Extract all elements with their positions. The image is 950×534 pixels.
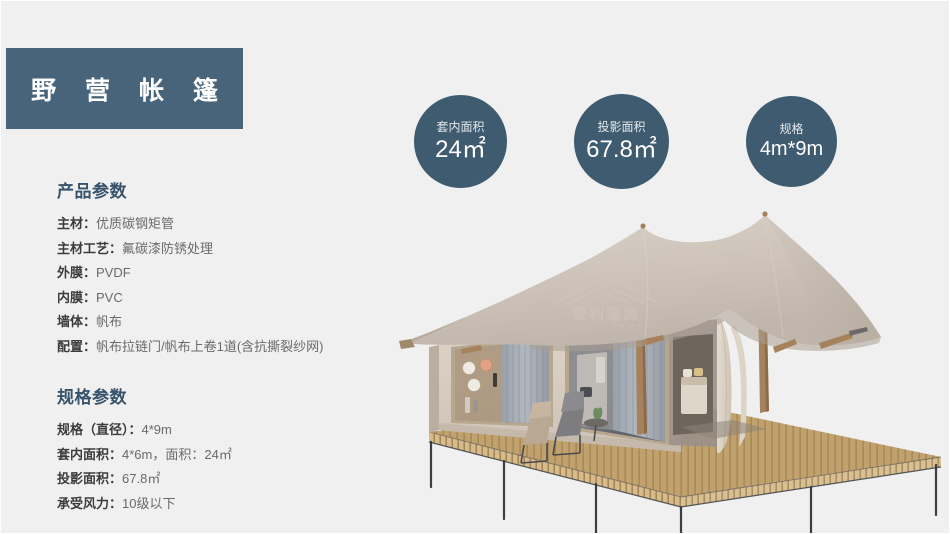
stat-badge-label: 套内面积 xyxy=(436,121,484,134)
tent-canopy xyxy=(399,211,881,351)
unit-sqm: ㎡ xyxy=(462,136,486,163)
spec-value: 10级以下 xyxy=(122,496,175,511)
dimension-parameters-list: 规格（直径）：4*9m 套内面积：4*6m，面积：24㎡ 投影面积：67.8㎡ … xyxy=(57,418,387,516)
spec-value: 优质碳钢矩管 xyxy=(96,216,174,231)
spec-row: 外膜：PVDF xyxy=(57,261,387,286)
spec-label: 投影面积： xyxy=(57,471,122,486)
unit-sqm: ㎡ xyxy=(633,136,657,163)
spec-label: 配置： xyxy=(57,339,96,354)
spec-row: 投影面积：67.8㎡ xyxy=(57,467,387,492)
section-heading: 产品参数 xyxy=(57,177,387,202)
spec-value: 4*6m，面积：24㎡ xyxy=(122,447,232,462)
spec-row: 内膜：PVC xyxy=(57,286,387,311)
spec-row: 主材：优质碳钢矩管 xyxy=(57,212,387,237)
spec-row: 规格（直径）：4*9m xyxy=(57,418,387,443)
section-heading: 规格参数 xyxy=(57,383,387,408)
stat-badge-value: 67.8㎡ xyxy=(586,137,657,162)
spec-row: 承受风力：10级以下 xyxy=(57,492,387,517)
title-banner: 野 营 帐 篷 xyxy=(6,48,243,129)
stat-badge-value: 4m*9m xyxy=(760,139,823,160)
tent-illustration: 雪利篷房 XUELI TENT xyxy=(381,197,950,534)
spec-value: PVC xyxy=(96,290,123,305)
spec-value: PVDF xyxy=(96,265,131,280)
spec-row: 主材工艺：氟碳漆防锈处理 xyxy=(57,237,387,262)
stat-badge-value: 24㎡ xyxy=(435,137,486,162)
spec-value: 4*9m xyxy=(142,422,172,437)
page-title: 野 营 帐 篷 xyxy=(20,71,229,107)
product-parameters-section: 产品参数 主材：优质碳钢矩管 主材工艺：氟碳漆防锈处理 外膜：PVDF 内膜：P… xyxy=(57,177,387,359)
spec-label: 规格（直径）： xyxy=(57,422,142,437)
dimension-parameters-section: 规格参数 规格（直径）：4*9m 套内面积：4*6m，面积：24㎡ 投影面积：6… xyxy=(57,383,387,516)
stat-badge-dimensions: 规格 4m*9m xyxy=(746,96,837,187)
stat-badge-label: 规格 xyxy=(779,123,803,136)
spec-label: 墙体： xyxy=(57,314,96,329)
stat-badge-interior-area: 套内面积 24㎡ xyxy=(414,95,507,188)
spec-row: 墙体：帆布 xyxy=(57,310,387,335)
spec-value: 氟碳漆防锈处理 xyxy=(122,241,213,256)
spec-value: 帆布拉链门/帆布上卷1道(含抗撕裂纱网) xyxy=(96,339,324,354)
spec-label: 主材： xyxy=(57,216,96,231)
spec-row: 套内面积：4*6m，面积：24㎡ xyxy=(57,443,387,468)
spec-row: 配置：帆布拉链门/帆布上卷1道(含抗撕裂纱网) xyxy=(57,335,387,360)
spec-label: 外膜： xyxy=(57,265,96,280)
product-spec-page: 野 营 帐 篷 套内面积 24㎡ 投影面积 67.8㎡ 规格 4m*9m 产品参… xyxy=(0,0,950,534)
spec-label: 主材工艺： xyxy=(57,241,122,256)
stat-badge-projected-area: 投影面积 67.8㎡ xyxy=(574,94,669,189)
spec-label: 承受风力： xyxy=(57,496,122,511)
spec-label: 套内面积： xyxy=(57,447,122,462)
product-parameters-list: 主材：优质碳钢矩管 主材工艺：氟碳漆防锈处理 外膜：PVDF 内膜：PVC 墙体… xyxy=(57,212,387,359)
spec-value: 帆布 xyxy=(96,314,122,329)
stat-badge-label: 投影面积 xyxy=(597,121,645,134)
spec-value: 67.8㎡ xyxy=(122,471,160,486)
spec-label: 内膜： xyxy=(57,290,96,305)
